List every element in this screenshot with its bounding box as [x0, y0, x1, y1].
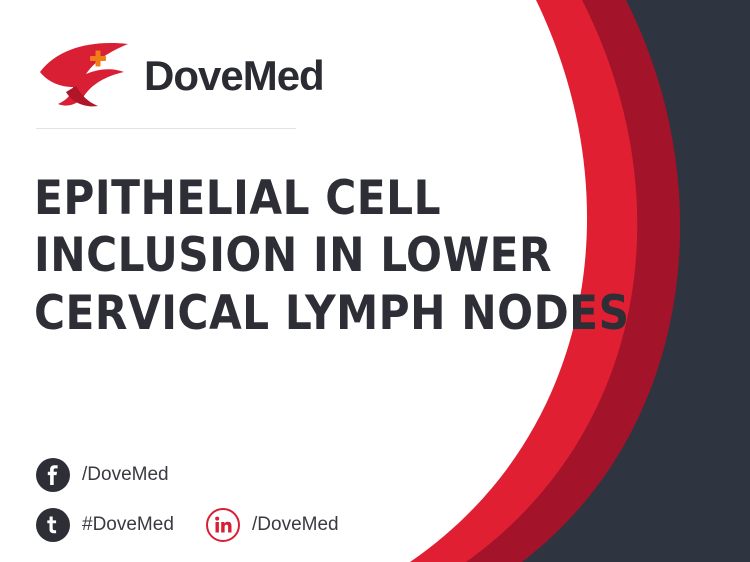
- page-title: Epithelial Cell Inclusion in Lower Cervi…: [34, 170, 634, 342]
- social-links: /DoveMed #DoveMed /DoveMed: [36, 452, 456, 548]
- twitter-icon: [36, 508, 70, 542]
- dove-bird-cross-icon: [36, 38, 134, 110]
- social-item-facebook[interactable]: /DoveMed: [36, 458, 169, 492]
- twitter-handle: #DoveMed: [82, 514, 174, 536]
- social-item-twitter[interactable]: #DoveMed: [36, 508, 174, 542]
- brand-logo: DoveMed: [36, 36, 336, 114]
- brand-wordmark: DoveMed: [144, 52, 324, 100]
- linkedin-icon: [206, 508, 240, 542]
- dovemed-title-card: DoveMed Epithelial Cell Inclusion in Low…: [0, 0, 750, 562]
- social-item-linkedin[interactable]: /DoveMed: [206, 508, 339, 542]
- linkedin-handle: /DoveMed: [252, 514, 339, 536]
- facebook-handle: /DoveMed: [82, 464, 169, 486]
- facebook-icon: [36, 458, 70, 492]
- brand-name-part1: Dove: [144, 52, 243, 99]
- logo-divider: [36, 128, 296, 129]
- brand-name-part2: Med: [243, 52, 324, 99]
